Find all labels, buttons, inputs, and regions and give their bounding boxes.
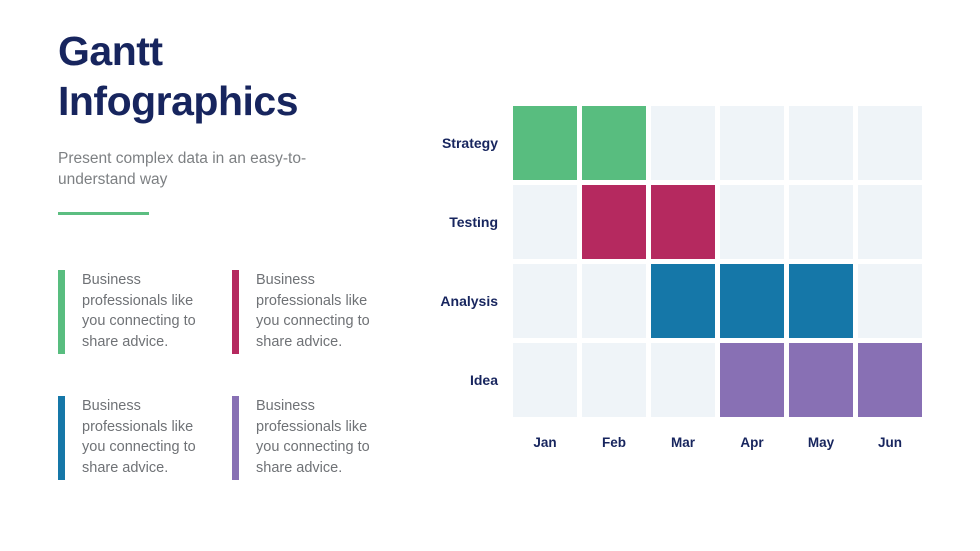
gantt-cell-testing-mar[interactable] — [651, 185, 715, 259]
page-subtitle: Present complex data in an easy-to-under… — [58, 148, 313, 190]
gantt-cell-testing-may[interactable] — [789, 185, 853, 259]
gantt-cell-testing-feb[interactable] — [582, 185, 646, 259]
gantt-cell-strategy-mar[interactable] — [651, 106, 715, 180]
axis-spacer — [438, 435, 508, 450]
gantt-grid: StrategyTestingAnalysisIdea — [438, 106, 922, 417]
page-title: Gantt Infographics — [58, 26, 418, 126]
gantt-axis-label-jun: Jun — [858, 435, 922, 450]
legend-color-bar-2 — [232, 270, 239, 354]
gantt-row-label-idea: Idea — [438, 343, 508, 417]
legend-item-1: Business professionals like you connecti… — [58, 270, 232, 396]
gantt-cell-idea-jun[interactable] — [858, 343, 922, 417]
gantt-cell-analysis-mar[interactable] — [651, 264, 715, 338]
gantt-cell-testing-jun[interactable] — [858, 185, 922, 259]
gantt-cell-idea-may[interactable] — [789, 343, 853, 417]
legend-item-text-2: Business professionals like you connecti… — [256, 270, 384, 352]
gantt-cell-testing-jan[interactable] — [513, 185, 577, 259]
legend-item-text-1: Business professionals like you connecti… — [82, 270, 210, 352]
gantt-cell-idea-jan[interactable] — [513, 343, 577, 417]
legend-color-bar-1 — [58, 270, 65, 354]
gantt-cell-testing-apr[interactable] — [720, 185, 784, 259]
gantt-cell-analysis-apr[interactable] — [720, 264, 784, 338]
accent-divider — [58, 212, 149, 215]
legend-item-text-3: Business professionals like you connecti… — [82, 396, 210, 478]
gantt-cell-idea-apr[interactable] — [720, 343, 784, 417]
gantt-cell-idea-feb[interactable] — [582, 343, 646, 417]
gantt-chart: StrategyTestingAnalysisIdea JanFebMarApr… — [438, 106, 922, 450]
legend-grid: Business professionals like you connecti… — [58, 270, 418, 522]
gantt-cell-strategy-feb[interactable] — [582, 106, 646, 180]
gantt-cell-analysis-feb[interactable] — [582, 264, 646, 338]
legend-item-2: Business professionals like you connecti… — [232, 270, 406, 396]
gantt-cell-strategy-jun[interactable] — [858, 106, 922, 180]
gantt-axis-label-may: May — [789, 435, 853, 450]
gantt-cell-analysis-jan[interactable] — [513, 264, 577, 338]
gantt-axis-label-feb: Feb — [582, 435, 646, 450]
legend-item-4: Business professionals like you connecti… — [232, 396, 406, 522]
legend-item-3: Business professionals like you connecti… — [58, 396, 232, 522]
gantt-cell-strategy-apr[interactable] — [720, 106, 784, 180]
gantt-axis-label-mar: Mar — [651, 435, 715, 450]
gantt-x-axis: JanFebMarAprMayJun — [438, 435, 922, 450]
gantt-cell-analysis-may[interactable] — [789, 264, 853, 338]
gantt-cell-strategy-may[interactable] — [789, 106, 853, 180]
legend-color-bar-4 — [232, 396, 239, 480]
gantt-axis-label-jan: Jan — [513, 435, 577, 450]
gantt-cell-idea-mar[interactable] — [651, 343, 715, 417]
gantt-row-label-strategy: Strategy — [438, 106, 508, 180]
gantt-row-label-testing: Testing — [438, 185, 508, 259]
slide-canvas: Gantt Infographics Present complex data … — [0, 0, 980, 551]
gantt-row-label-analysis: Analysis — [438, 264, 508, 338]
gantt-cell-strategy-jan[interactable] — [513, 106, 577, 180]
legend-item-text-4: Business professionals like you connecti… — [256, 396, 384, 478]
gantt-cell-analysis-jun[interactable] — [858, 264, 922, 338]
gantt-axis-label-apr: Apr — [720, 435, 784, 450]
legend-color-bar-3 — [58, 396, 65, 480]
